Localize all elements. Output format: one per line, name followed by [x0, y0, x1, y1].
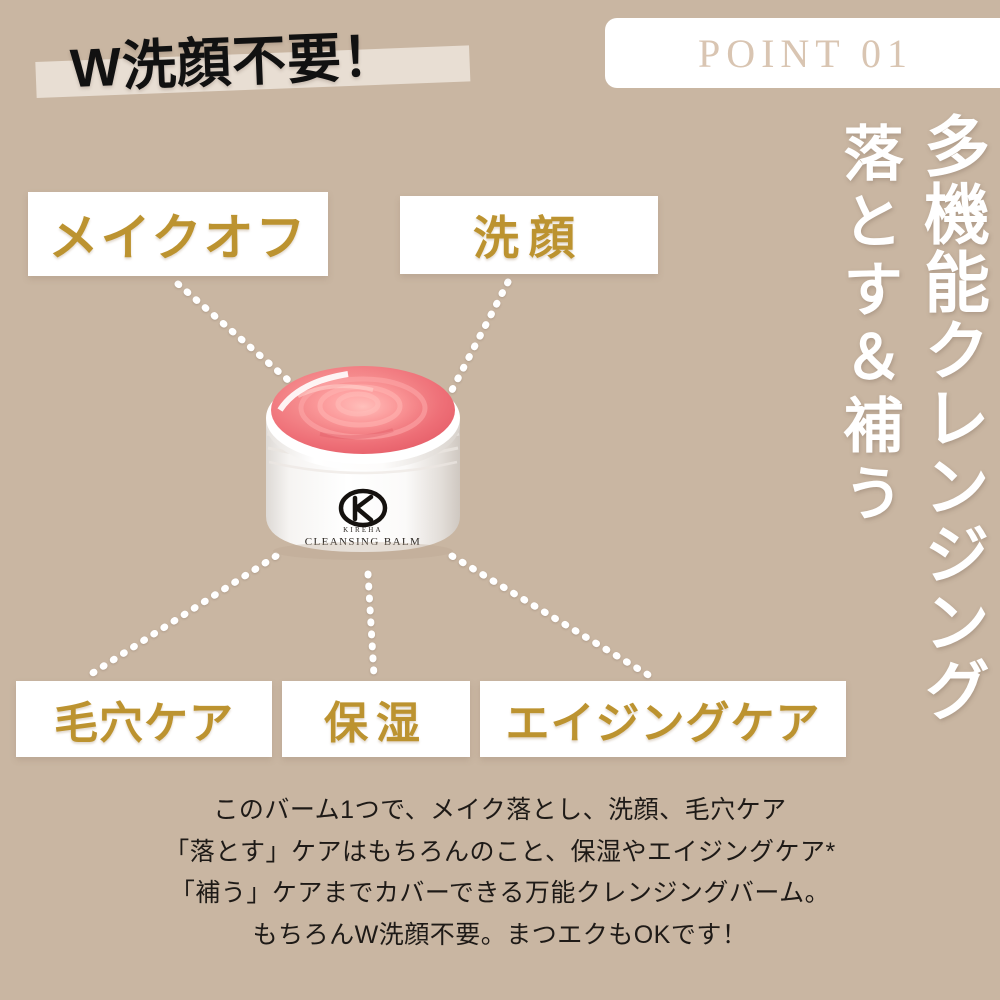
body-copy-line: このバーム1つで、メイク落とし、洗顔、毛穴ケア — [0, 790, 1000, 832]
feature-label-sengan: 洗顔 — [400, 196, 658, 274]
product-jar: KIREHA CLEANSING BALM — [238, 338, 488, 588]
feature-label-makeoff: メイクオフ — [28, 192, 328, 276]
feature-label-hoshitsu: 保湿 — [282, 681, 470, 757]
feature-label-aging: エイジングケア — [480, 681, 846, 757]
feature-label-text: 毛穴ケア — [54, 687, 234, 751]
feature-label-keana: 毛穴ケア — [16, 681, 272, 757]
feature-label-text: エイジングケア — [506, 687, 821, 751]
body-copy-line: もちろんW洗顔不要。まつエクもOKです！ — [0, 915, 1000, 957]
feature-label-text: 保湿 — [324, 687, 428, 751]
body-copy-line: 「補う」ケアまでカバーできる万能クレンジングバーム。 — [0, 873, 1000, 915]
body-copy-line: 「落とす」ケアはもちろんのこと、保湿やエイジングケア* — [0, 832, 1000, 874]
brand-name: KIREHA — [343, 526, 383, 534]
connector-hoshitsu — [368, 574, 374, 676]
promo-banner: W洗顔不要！ POINT 01 多機能クレンジング 落とす＆補う — [0, 0, 1000, 1000]
feature-label-text: 洗顔 — [473, 202, 585, 268]
feature-label-text: メイクオフ — [49, 198, 308, 270]
body-copy: このバーム1つで、メイク落とし、洗顔、毛穴ケア 「落とす」ケアはもちろんのこと、… — [0, 790, 1000, 956]
